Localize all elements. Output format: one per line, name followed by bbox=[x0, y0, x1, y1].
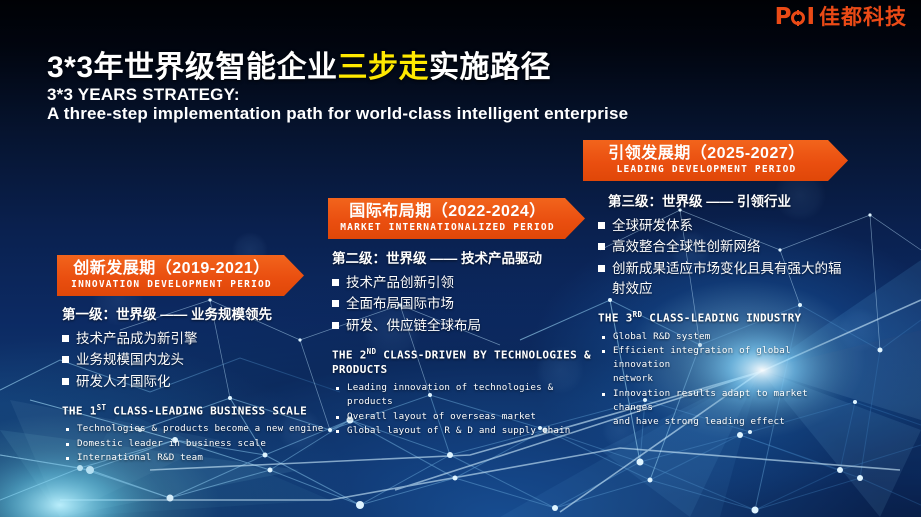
page-title-cn-highlight: 三步走 bbox=[338, 51, 430, 84]
logo-letter-p: P bbox=[775, 6, 791, 29]
step-1-cn-bullet: 技术产品成为新引擎 bbox=[62, 329, 330, 349]
step-banner-3-title-en: LEADING DEVELOPMENT PERIOD bbox=[617, 165, 797, 175]
bullet-dot-icon bbox=[336, 387, 339, 390]
step-2-lead: 第二级：世界级 —— 技术产品驱动 bbox=[332, 247, 597, 267]
step-3-en-heading-post: CLASS-LEADING INDUSTRY bbox=[642, 312, 801, 325]
page-subtitle-en-line1: 3*3 YEARS STRATEGY: bbox=[47, 85, 240, 105]
step-1-en-bullet: Technologies & products become a new eng… bbox=[62, 422, 330, 436]
bullet-text: 全面布局国际市场 bbox=[346, 294, 454, 314]
step-banner-1-title-en: INNOVATION DEVELOPMENT PERIOD bbox=[71, 280, 272, 290]
step-content-1: 第一级：世界级 —— 业务规模领先 技术产品成为新引擎 业务规模国内龙头 研发人… bbox=[62, 303, 330, 465]
step-banner-2[interactable]: 国际布局期（2022-2024） MARKET INTERNATIONALIZE… bbox=[328, 198, 585, 239]
step-banner-1[interactable]: 创新发展期（2019-2021） INNOVATION DEVELOPMENT … bbox=[57, 255, 304, 296]
step-1-lead: 第一级：世界级 —— 业务规模领先 bbox=[62, 303, 330, 323]
bullet-dot-icon bbox=[336, 430, 339, 433]
step-1-cn-bullet: 研发人才国际化 bbox=[62, 372, 330, 392]
step-2-cn-bullet: 全面布局国际市场 bbox=[332, 294, 597, 314]
page-title-cn-part1: 3*3年世界级智能企业 bbox=[47, 51, 338, 84]
bullet-dot-icon bbox=[602, 393, 605, 396]
step-content-2: 第二级：世界级 —— 技术产品驱动 技术产品创新引领 全面布局国际市场 研发、供… bbox=[332, 247, 597, 438]
company-logo: PI 佳都科技 bbox=[775, 6, 907, 29]
step-3-en-heading-pre: THE 3 bbox=[598, 312, 633, 325]
bullet-text: Technologies & products become a new eng… bbox=[77, 422, 323, 436]
bullet-text: 全球研发体系 bbox=[612, 216, 693, 236]
bullet-square-icon bbox=[598, 243, 605, 250]
step-3-en-heading: THE 3RD CLASS-LEADING INDUSTRY bbox=[598, 310, 843, 327]
step-2-cn-bullet: 研发、供应链全球布局 bbox=[332, 316, 597, 336]
step-1-en-heading-ordinal: ST bbox=[97, 403, 107, 412]
bullet-text: 研发人才国际化 bbox=[76, 372, 171, 392]
target-ring-icon bbox=[791, 11, 805, 25]
step-1-en-bullet: International R&D team bbox=[62, 451, 330, 465]
step-2-en-heading: THE 2ND CLASS-DRIVEN BY TECHNOLOGIES & P… bbox=[332, 347, 597, 378]
step-3-cn-bullet: 创新成果适应市场变化且具有强大的辐射效应 bbox=[598, 259, 843, 300]
bullet-square-icon bbox=[598, 222, 605, 229]
step-2-en-heading-pre: THE 2 bbox=[332, 348, 367, 361]
step-1-en-heading-post: CLASS-LEADING BUSINESS SCALE bbox=[106, 404, 307, 417]
step-2-en-bullet: Overall layout of overseas market bbox=[332, 410, 597, 424]
bullet-square-icon bbox=[62, 378, 69, 385]
bullet-text: 研发、供应链全球布局 bbox=[346, 316, 481, 336]
bullet-text: 技术产品成为新引擎 bbox=[76, 329, 198, 349]
step-banner-1-title-cn: 创新发展期（2019-2021） bbox=[73, 261, 270, 278]
bullet-text: 业务规模国内龙头 bbox=[76, 350, 184, 370]
step-banner-3-title-cn: 引领发展期（2025-2027） bbox=[608, 146, 805, 163]
bullet-text: Global layout of R & D and supply chain bbox=[347, 424, 571, 438]
bullet-square-icon bbox=[332, 279, 339, 286]
bullet-dot-icon bbox=[66, 457, 69, 460]
bullet-dot-icon bbox=[336, 416, 339, 419]
bullet-text: 创新成果适应市场变化且具有强大的辐射效应 bbox=[612, 259, 843, 300]
step-3-cn-bullet: 高效整合全球性创新网络 bbox=[598, 237, 843, 257]
step-banner-2-title-cn: 国际布局期（2022-2024） bbox=[349, 204, 546, 221]
step-3-cn-bullet: 全球研发体系 bbox=[598, 216, 843, 236]
page-title-cn: 3*3年世界级智能企业三步走实施路径 bbox=[47, 42, 551, 86]
pci-wordmark: PI bbox=[775, 6, 814, 29]
bullet-text: Leading innovation of technologies & pro… bbox=[347, 381, 553, 410]
step-3-en-bullet: Innovation results adapt to market chang… bbox=[598, 387, 843, 430]
bullet-square-icon bbox=[62, 356, 69, 363]
bullet-square-icon bbox=[62, 335, 69, 342]
step-2-en-bullet: Global layout of R & D and supply chain bbox=[332, 424, 597, 438]
bullet-square-icon bbox=[332, 322, 339, 329]
page-subtitle-en-line2: A three-step implementation path for wor… bbox=[47, 104, 628, 124]
page-title-cn-part2: 实施路径 bbox=[429, 51, 551, 84]
bullet-text: Overall layout of overseas market bbox=[347, 410, 536, 424]
bullet-dot-icon bbox=[602, 350, 605, 353]
step-1-en-heading: THE 1ST CLASS-LEADING BUSINESS SCALE bbox=[62, 403, 330, 420]
logo-letter-i: I bbox=[806, 6, 814, 29]
bullet-dot-icon bbox=[66, 428, 69, 431]
step-banner-3[interactable]: 引领发展期（2025-2027） LEADING DEVELOPMENT PER… bbox=[583, 140, 848, 181]
bullet-text: Global R&D system bbox=[613, 330, 710, 344]
bullet-text: Innovation results adapt to market chang… bbox=[613, 387, 843, 430]
bullet-text: Efficient integration of global innovati… bbox=[613, 344, 843, 387]
step-2-en-bullet: Leading innovation of technologies & pro… bbox=[332, 381, 597, 410]
step-1-en-bullet: Domestic leader in business scale bbox=[62, 437, 330, 451]
bullet-text: Domestic leader in business scale bbox=[77, 437, 266, 451]
bullet-square-icon bbox=[598, 265, 605, 272]
bullet-text: 技术产品创新引领 bbox=[346, 273, 454, 293]
step-3-en-heading-ordinal: RD bbox=[633, 310, 643, 319]
slide-canvas: PI 佳都科技 3*3年世界级智能企业三步走实施路径 3*3 YEARS STR… bbox=[0, 0, 921, 517]
step-2-en-heading-ordinal: ND bbox=[367, 347, 377, 356]
step-banner-2-title-en: MARKET INTERNATIONALIZED PERIOD bbox=[340, 223, 555, 233]
step-1-cn-bullet: 业务规模国内龙头 bbox=[62, 350, 330, 370]
bullet-dot-icon bbox=[66, 443, 69, 446]
step-3-en-bullet: Global R&D system bbox=[598, 330, 843, 344]
logo-company-name: 佳都科技 bbox=[819, 7, 907, 28]
step-1-en-heading-pre: THE 1 bbox=[62, 404, 97, 417]
step-content-3: 第三级：世界级 —— 引领行业 全球研发体系 高效整合全球性创新网络 创新成果适… bbox=[598, 190, 843, 429]
step-3-lead: 第三级：世界级 —— 引领行业 bbox=[608, 190, 843, 210]
bullet-text: 高效整合全球性创新网络 bbox=[612, 237, 761, 257]
bullet-text: International R&D team bbox=[77, 451, 203, 465]
bullet-square-icon bbox=[332, 300, 339, 307]
step-2-cn-bullet: 技术产品创新引领 bbox=[332, 273, 597, 293]
step-3-en-bullet: Efficient integration of global innovati… bbox=[598, 344, 843, 387]
bullet-dot-icon bbox=[602, 336, 605, 339]
